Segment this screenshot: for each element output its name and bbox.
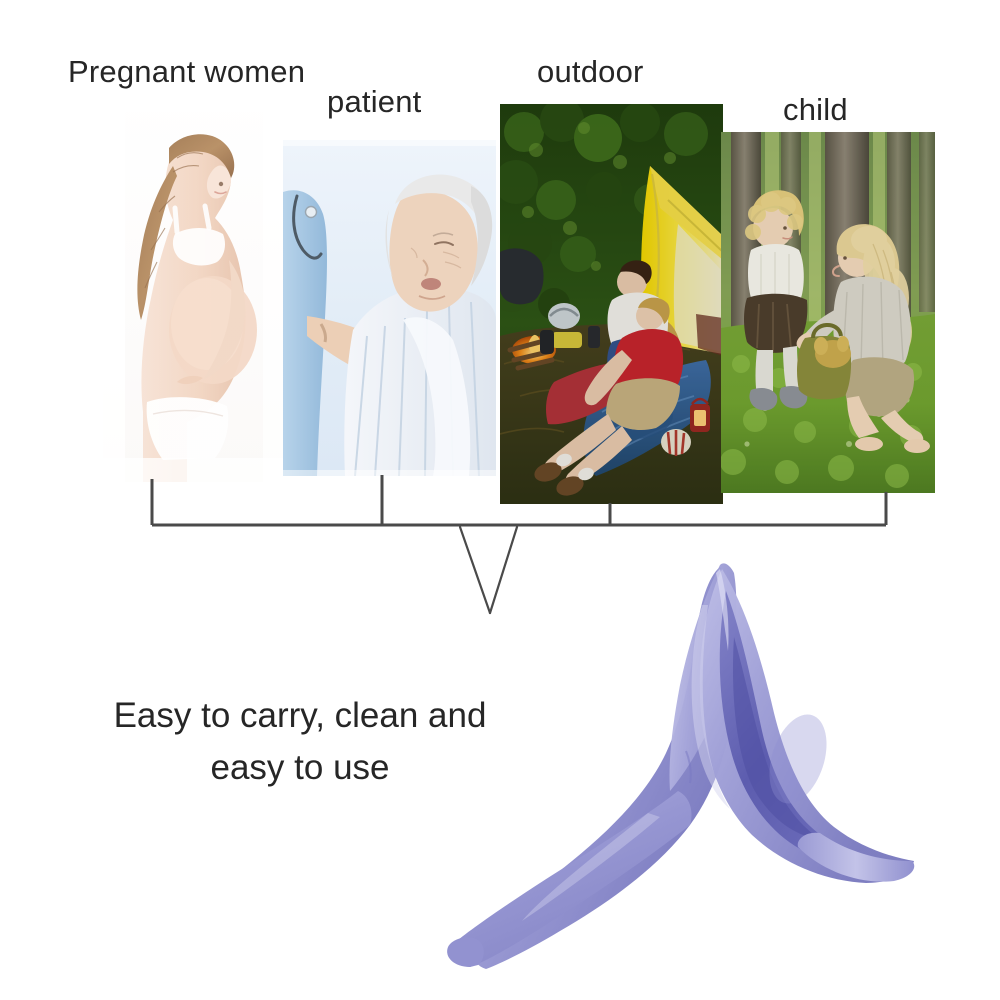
- infographic-stage: Pregnant women patient outdoor child: [0, 0, 1000, 1000]
- use-case-label-patient: patient: [327, 84, 421, 120]
- use-case-label-child: child: [783, 92, 848, 128]
- funnel-rim: [798, 833, 915, 882]
- product-image-funnel: [390, 545, 970, 970]
- use-case-photo-child: [721, 132, 935, 493]
- use-case-photo-outdoor: [500, 104, 723, 504]
- use-case-photo-pregnant: [103, 92, 285, 482]
- funnel-spout-tip: [447, 937, 484, 967]
- use-case-photo-patient: [283, 140, 496, 476]
- use-case-label-pregnant: Pregnant women: [68, 54, 305, 90]
- use-case-label-outdoor: outdoor: [537, 54, 644, 90]
